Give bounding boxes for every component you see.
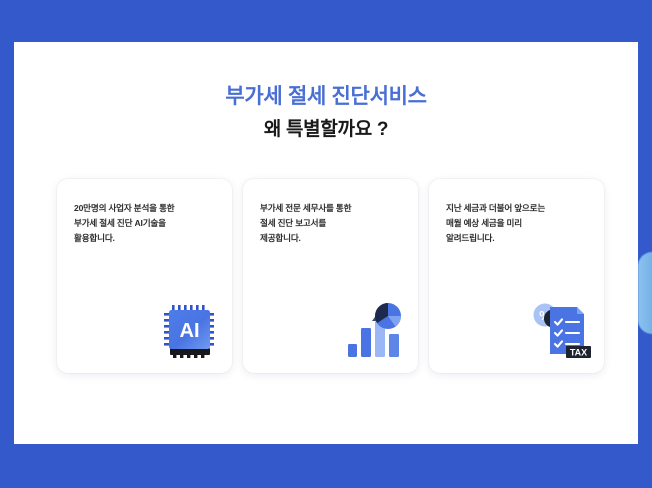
feature-card[interactable]: 지난 세금과 더불어 앞으로는 매월 예상 세금을 미리 알려드립니다. % — [429, 179, 604, 373]
heading-block: 부가세 절세 진단서비스 왜 특별할까요 ? — [14, 84, 638, 142]
feature-card[interactable]: 20만명의 사업자 분석을 통한 부가세 절세 진단 AI기술을 활용합니다. — [57, 179, 232, 373]
bar-chart-growth-icon — [344, 299, 406, 361]
page-subtitle: 왜 특별할까요 ? — [14, 118, 638, 142]
right-edge-tab[interactable] — [638, 252, 652, 334]
feature-card-text: 지난 세금과 더불어 앞으로는 매월 예상 세금을 미리 알려드립니다. — [446, 201, 587, 245]
ai-chip-icon: AI — [158, 299, 220, 361]
svg-text:AI: AI — [180, 320, 200, 342]
slide-stage: 부가세 절세 진단서비스 왜 특별할까요 ? 20만명의 사업자 분석을 통한 … — [0, 0, 652, 488]
feature-card-text: 부가세 전문 세무사를 통한 절세 진단 보고서를 제공합니다. — [260, 201, 401, 245]
feature-card-list: 20만명의 사업자 분석을 통한 부가세 절세 진단 AI기술을 활용합니다. — [57, 179, 605, 373]
page-title: 부가세 절세 진단서비스 — [14, 84, 638, 110]
tax-checklist-icon: % — [530, 299, 592, 361]
feature-card[interactable]: 부가세 전문 세무사를 통한 절세 진단 보고서를 제공합니다. — [243, 179, 418, 373]
feature-card-text: 20만명의 사업자 분석을 통한 부가세 절세 진단 AI기술을 활용합니다. — [74, 201, 215, 245]
slide-panel: 부가세 절세 진단서비스 왜 특별할까요 ? 20만명의 사업자 분석을 통한 … — [14, 42, 638, 444]
svg-text:TAX: TAX — [570, 347, 587, 357]
pie-chart-icon — [375, 303, 401, 329]
tax-tag: TAX — [566, 346, 591, 358]
